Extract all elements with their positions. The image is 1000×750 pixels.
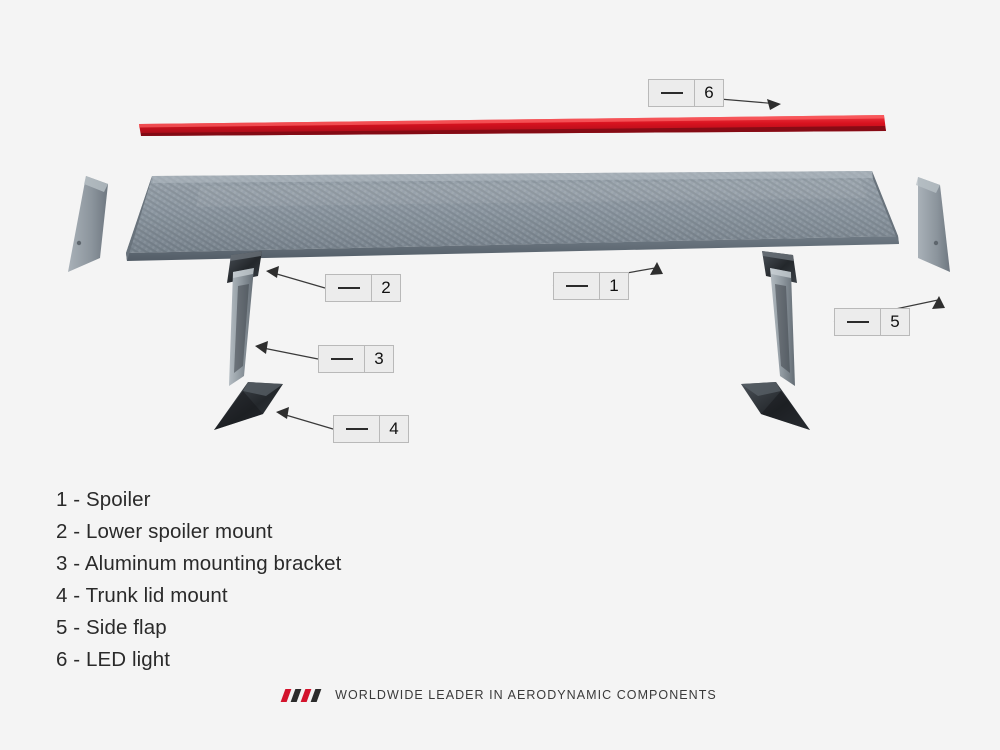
legend-item-1: 1 - Spoiler	[56, 484, 576, 516]
diagram-canvas: 6 1 2 3 4 5 1 - Spoiler 2 - Lower spoile…	[0, 0, 1000, 750]
legend-item-5: 5 - Side flap	[56, 612, 576, 644]
mount-assembly-right	[741, 251, 810, 430]
callout-number: 4	[380, 416, 408, 442]
part-side-flap-right	[916, 177, 950, 272]
part-side-flap-left	[68, 176, 108, 272]
callout-dash-icon	[326, 275, 372, 301]
callout-1[interactable]: 1	[553, 272, 629, 300]
mount-assembly-left	[214, 251, 283, 430]
callout-2[interactable]: 2	[325, 274, 401, 302]
part-spoiler-wing	[126, 171, 899, 261]
callout-dash-icon	[554, 273, 600, 299]
callout-dash-icon	[835, 309, 881, 335]
parts-legend: 1 - Spoiler 2 - Lower spoiler mount 3 - …	[56, 484, 576, 676]
callout-number: 3	[365, 346, 393, 372]
callout-number: 6	[695, 80, 723, 106]
callout-4[interactable]: 4	[333, 415, 409, 443]
legend-item-2: 2 - Lower spoiler mount	[56, 516, 576, 548]
legend-item-6: 6 - LED light	[56, 644, 576, 676]
legend-item-4: 4 - Trunk lid mount	[56, 580, 576, 612]
callout-dash-icon	[319, 346, 365, 372]
callout-dash-icon	[649, 80, 695, 106]
callout-number: 1	[600, 273, 628, 299]
part-led-light	[139, 115, 886, 136]
footer-branding: WORLDWIDE LEADER IN AERODYNAMIC COMPONEN…	[0, 688, 1000, 702]
callout-dash-icon	[334, 416, 380, 442]
brand-stripes-icon	[281, 689, 326, 702]
footer-tagline: WORLDWIDE LEADER IN AERODYNAMIC COMPONEN…	[335, 688, 717, 702]
callout-6[interactable]: 6	[648, 79, 724, 107]
callout-3[interactable]: 3	[318, 345, 394, 373]
callout-number: 2	[372, 275, 400, 301]
callout-5[interactable]: 5	[834, 308, 910, 336]
callout-number: 5	[881, 309, 909, 335]
legend-item-3: 3 - Aluminum mounting bracket	[56, 548, 576, 580]
leader-lines	[258, 93, 938, 429]
